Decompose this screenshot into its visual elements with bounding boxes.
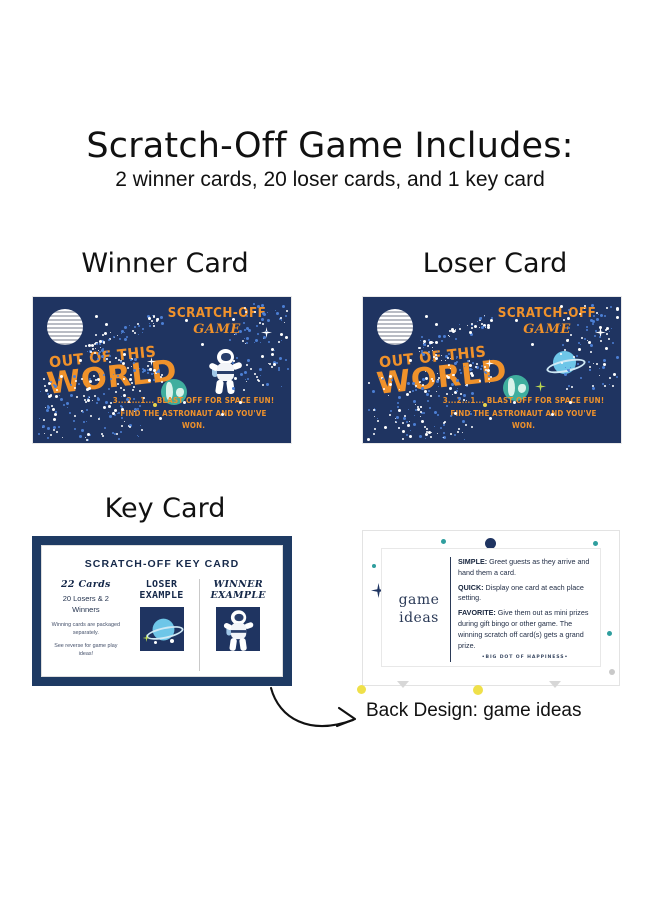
star-dot xyxy=(153,325,155,327)
star-dot xyxy=(432,350,433,351)
card-tagline: 3...2...1... BLAST OFF FOR SPACE FUN! FI… xyxy=(110,395,276,433)
star-dot xyxy=(421,420,424,423)
star-dot xyxy=(97,358,99,360)
star-dot xyxy=(266,383,269,386)
star-dot xyxy=(570,334,572,336)
star-dot xyxy=(389,383,392,386)
star-dot xyxy=(443,422,445,424)
star-dot xyxy=(606,307,608,309)
game-text: game xyxy=(399,592,440,610)
star-dot xyxy=(232,362,234,364)
sparkle-icon xyxy=(535,381,546,392)
star-dot xyxy=(109,338,111,340)
star-dot xyxy=(108,339,110,341)
star-dot xyxy=(571,386,573,388)
star-dot xyxy=(120,431,122,433)
star-dot xyxy=(531,343,534,346)
star-dot xyxy=(420,340,421,341)
star-dot xyxy=(551,413,554,416)
star-dot xyxy=(83,421,85,423)
star-dot xyxy=(442,437,443,438)
star-dot xyxy=(418,347,420,349)
star-dot xyxy=(584,338,586,340)
star-dot xyxy=(592,385,594,387)
star-dot xyxy=(160,316,163,319)
star-dot xyxy=(481,326,484,329)
star-dot xyxy=(134,358,137,361)
star-dot xyxy=(96,402,98,404)
star-dot xyxy=(476,363,478,365)
star-dot xyxy=(285,336,288,339)
star-dot xyxy=(129,325,130,326)
star-dot xyxy=(123,394,126,397)
star-dot xyxy=(377,420,379,422)
star-dot xyxy=(374,416,375,417)
star-dot xyxy=(286,310,288,312)
key-card-counts: 22 Cards 20 Losers & 2 Winners Winning c… xyxy=(48,579,124,671)
star-dot xyxy=(431,432,432,433)
star-dot xyxy=(489,417,492,420)
star-dot xyxy=(138,436,139,437)
star-dot xyxy=(609,377,611,379)
star-dot xyxy=(425,438,426,439)
star-dot xyxy=(462,432,463,433)
star-dot xyxy=(437,414,439,416)
winner-example-column: WINNER EXAMPLE xyxy=(200,579,276,671)
star-dot xyxy=(445,360,446,361)
star-dot xyxy=(568,327,570,329)
tip-label: FAVORITE: xyxy=(458,608,496,617)
star-dot xyxy=(137,323,139,325)
star-dot xyxy=(159,417,162,420)
star-dot xyxy=(170,639,174,643)
star-dot xyxy=(67,407,68,408)
star-dot xyxy=(114,409,117,412)
tip-label: SIMPLE: xyxy=(458,557,487,566)
star-dot xyxy=(573,356,575,358)
scratch-off-text: SCRATCH-OFF xyxy=(492,307,602,321)
star-dot xyxy=(262,384,264,386)
brand-footer: •BIG DOT OF HAPPINESS• xyxy=(458,655,592,660)
star-dot xyxy=(261,304,264,307)
star-dot xyxy=(409,359,412,362)
star-dot xyxy=(250,368,252,370)
astronaut-icon xyxy=(224,610,255,651)
star-dot xyxy=(147,372,149,374)
star-dot xyxy=(121,333,122,334)
star-dot xyxy=(616,308,619,311)
star-dot xyxy=(475,366,477,368)
star-dot xyxy=(415,404,416,405)
star-dot xyxy=(402,438,404,440)
key-card-title: SCRATCH-OFF KEY CARD xyxy=(48,558,276,570)
star-dot xyxy=(458,428,460,430)
star-dot xyxy=(598,314,599,315)
star-dot xyxy=(40,391,41,392)
star-dot xyxy=(153,379,155,381)
star-dot xyxy=(437,433,438,434)
star-dot xyxy=(425,345,426,346)
star-dot xyxy=(599,375,600,376)
page-subtitle: 2 winner cards, 20 loser cards, and 1 ke… xyxy=(0,168,660,192)
star-dot xyxy=(367,438,370,441)
packaging-note: Winning cards are packaged separately. xyxy=(48,621,124,637)
star-dot xyxy=(97,378,100,381)
star-dot xyxy=(471,323,473,325)
star-dot xyxy=(279,357,282,360)
star-dot xyxy=(438,335,441,338)
yellow-dot xyxy=(473,685,483,695)
star-dot xyxy=(425,377,428,380)
star-dot xyxy=(477,321,478,322)
star-dot xyxy=(271,348,274,351)
star-dot xyxy=(271,353,274,356)
star-dot xyxy=(456,361,458,363)
star-dot xyxy=(263,336,266,339)
scratch-off-text: SCRATCH-OFF xyxy=(162,307,272,321)
star-dot xyxy=(610,306,612,308)
star-dot xyxy=(594,335,596,337)
star-dot xyxy=(47,393,49,395)
star-dot xyxy=(484,366,486,368)
star-dot xyxy=(428,431,431,434)
star-dot xyxy=(102,334,104,336)
star-dot xyxy=(142,332,143,333)
star-dot xyxy=(425,433,428,436)
star-dot xyxy=(267,312,268,313)
star-dot xyxy=(86,421,87,422)
star-dot xyxy=(285,315,287,317)
star-dot xyxy=(149,325,151,327)
star-dot xyxy=(402,422,404,424)
star-dot xyxy=(74,415,76,417)
star-dot xyxy=(149,323,150,324)
star-dot xyxy=(599,326,602,329)
star-dot xyxy=(236,357,238,359)
star-dot xyxy=(281,320,282,321)
star-dot xyxy=(70,394,73,397)
star-dot xyxy=(419,435,422,438)
star-dot xyxy=(276,362,278,364)
star-dot xyxy=(427,345,429,347)
star-dot xyxy=(398,427,400,429)
star-dot xyxy=(564,373,567,376)
star-dot xyxy=(256,376,258,378)
star-dot xyxy=(430,436,432,438)
striped-planet-icon xyxy=(47,309,83,345)
teal-dot xyxy=(441,539,446,544)
star-dot xyxy=(90,415,92,417)
star-dot xyxy=(589,366,591,368)
star-dot xyxy=(423,347,424,348)
winner-card-label: Winner Card xyxy=(30,248,300,279)
star-dot xyxy=(254,311,256,313)
star-dot xyxy=(515,319,518,322)
star-dot xyxy=(443,335,446,338)
star-dot xyxy=(280,333,283,336)
star-dot xyxy=(53,429,55,431)
star-dot xyxy=(255,339,258,342)
star-dot xyxy=(592,387,595,390)
star-dot xyxy=(86,409,88,411)
star-dot xyxy=(76,396,78,398)
grey-dot xyxy=(609,669,615,675)
star-dot xyxy=(269,363,271,365)
star-dot xyxy=(450,368,451,369)
curved-arrow-icon xyxy=(265,686,375,742)
star-dot xyxy=(130,374,132,376)
star-dot xyxy=(229,339,231,341)
star-dot xyxy=(590,351,592,353)
star-dot xyxy=(153,323,154,324)
star-dot xyxy=(368,409,370,411)
star-dot xyxy=(471,327,473,329)
star-dot xyxy=(425,315,428,318)
star-dot xyxy=(54,413,57,416)
star-dot xyxy=(81,378,83,380)
star-dot xyxy=(129,426,131,428)
star-dot xyxy=(464,366,465,367)
star-dot xyxy=(110,378,112,380)
star-dot xyxy=(246,315,248,317)
star-dot xyxy=(389,375,392,378)
star-dot xyxy=(612,342,614,344)
star-dot xyxy=(246,342,248,344)
star-dot xyxy=(616,316,619,319)
star-dot xyxy=(589,369,591,371)
star-dot xyxy=(134,326,136,328)
game-ideas-heading: game ideas xyxy=(388,557,451,662)
star-dot xyxy=(464,439,465,440)
star-dot xyxy=(467,325,468,326)
star-dot xyxy=(92,400,93,401)
star-dot xyxy=(460,393,462,395)
star-dot xyxy=(407,382,410,385)
yellow-star-dot xyxy=(153,403,157,407)
star-dot xyxy=(429,341,432,344)
back-design-caption: Back Design: game ideas xyxy=(366,700,581,722)
star-dot xyxy=(138,325,140,327)
star-dot xyxy=(273,363,276,366)
star-dot xyxy=(436,391,437,392)
star-dot xyxy=(403,417,406,420)
star-dot xyxy=(138,334,139,335)
star-dot xyxy=(432,380,434,382)
star-dot xyxy=(38,433,40,435)
star-dot xyxy=(397,402,399,404)
star-dot xyxy=(568,385,570,387)
star-dot xyxy=(471,426,473,428)
star-dot xyxy=(426,431,428,433)
star-dot xyxy=(232,387,235,390)
star-dot xyxy=(104,332,107,335)
game-ideas-list: SIMPLE: Greet guests as they arrive and … xyxy=(451,557,592,662)
star-dot xyxy=(421,336,423,338)
star-dot xyxy=(432,360,433,361)
star-dot xyxy=(130,359,132,361)
star-dot xyxy=(137,408,139,410)
star-dot xyxy=(45,407,46,408)
star-dot xyxy=(484,315,485,316)
star-dot xyxy=(124,332,125,333)
star-dot xyxy=(82,411,84,413)
star-dot xyxy=(479,317,482,320)
star-dot xyxy=(246,364,248,366)
loser-card-label: Loser Card xyxy=(360,248,630,279)
card-count-heading: 22 Cards xyxy=(48,579,124,590)
star-dot xyxy=(448,353,450,355)
star-dot xyxy=(47,427,50,430)
star-dot xyxy=(86,439,88,441)
star-dot xyxy=(578,348,581,351)
loser-example-column: LOSER EXAMPLE xyxy=(124,579,201,671)
star-dot xyxy=(435,341,438,344)
star-dot xyxy=(410,430,411,431)
star-dot xyxy=(39,418,40,419)
back-design-image: game ideas SIMPLE: Greet guests as they … xyxy=(362,530,620,686)
star-dot xyxy=(141,429,143,431)
star-dot xyxy=(110,402,112,404)
star-dot xyxy=(69,412,71,414)
star-dot xyxy=(377,418,378,419)
star-dot xyxy=(384,426,387,429)
star-dot xyxy=(281,386,282,387)
star-dot xyxy=(185,319,188,322)
star-dot xyxy=(397,406,399,408)
star-dot xyxy=(246,327,249,330)
teal-dot xyxy=(607,631,612,636)
star-dot xyxy=(454,434,456,436)
star-dot xyxy=(281,340,282,341)
star-dot xyxy=(474,325,477,328)
star-dot xyxy=(513,401,516,404)
star-dot xyxy=(62,437,63,438)
striped-planet-icon xyxy=(377,309,413,345)
star-dot xyxy=(127,367,129,369)
star-dot xyxy=(53,418,56,421)
triangle-marker xyxy=(397,681,409,688)
star-dot xyxy=(105,323,108,326)
astronaut-icon xyxy=(209,349,243,395)
star-dot xyxy=(398,409,401,412)
star-dot xyxy=(388,395,389,396)
star-dot xyxy=(606,333,608,335)
star-dot xyxy=(580,377,582,379)
star-dot xyxy=(246,381,247,382)
star-dot xyxy=(201,343,204,346)
star-dot xyxy=(91,344,94,347)
teal-dot xyxy=(593,541,598,546)
star-dot xyxy=(413,423,416,426)
star-dot xyxy=(404,415,406,417)
star-dot xyxy=(449,336,450,337)
star-dot xyxy=(603,359,606,362)
star-dot xyxy=(103,406,106,409)
star-dot xyxy=(609,331,610,332)
star-dot xyxy=(112,412,115,415)
star-dot xyxy=(396,416,399,419)
star-dot xyxy=(603,363,606,366)
star-dot xyxy=(593,315,595,317)
star-dot xyxy=(96,343,98,345)
star-dot xyxy=(408,409,409,410)
star-dot xyxy=(285,359,287,361)
star-dot xyxy=(602,366,605,369)
star-dot xyxy=(466,400,467,401)
star-dot xyxy=(108,388,110,390)
star-dot xyxy=(282,305,285,308)
star-dot xyxy=(430,395,432,397)
star-dot xyxy=(257,305,260,308)
star-dot xyxy=(588,361,590,363)
star-dot xyxy=(63,404,65,406)
star-dot xyxy=(245,379,246,380)
star-dot xyxy=(101,355,104,358)
star-dot xyxy=(121,417,123,419)
star-dot xyxy=(450,433,452,435)
star-dot xyxy=(484,326,485,327)
star-dot xyxy=(124,326,127,329)
star-dot xyxy=(613,373,616,376)
star-dot xyxy=(616,356,619,359)
star-dot xyxy=(256,325,258,327)
star-dot xyxy=(118,412,120,414)
star-dot xyxy=(593,363,594,364)
star-dot xyxy=(44,433,45,434)
star-dot xyxy=(105,401,108,404)
star-dot xyxy=(56,389,58,391)
star-dot xyxy=(47,437,49,439)
star-dot xyxy=(568,339,569,340)
star-dot xyxy=(116,433,118,435)
star-dot xyxy=(436,356,437,357)
star-dot xyxy=(79,359,82,362)
star-dot xyxy=(609,384,610,385)
star-dot xyxy=(372,390,375,393)
star-dot xyxy=(109,355,111,357)
star-dot xyxy=(596,363,598,365)
star-dot xyxy=(611,328,612,329)
star-dot xyxy=(245,343,246,344)
star-dot xyxy=(243,389,245,391)
tip-label: QUICK: xyxy=(458,583,484,592)
star-dot xyxy=(51,405,53,407)
star-dot xyxy=(46,409,49,412)
star-dot xyxy=(121,425,123,427)
star-dot xyxy=(580,344,581,345)
star-dot xyxy=(612,385,614,387)
star-dot xyxy=(117,375,119,377)
star-dot xyxy=(44,385,46,387)
tagline-line-2: FIND THE ASTRONAUT AND YOU'VE WON. xyxy=(440,408,606,434)
star-dot xyxy=(599,368,600,369)
star-dot xyxy=(450,415,452,417)
star-dot xyxy=(374,408,375,409)
loser-card-image: SCRATCH-OFF GAME OUT OF THIS WORLD 3...2… xyxy=(362,296,622,444)
star-dot xyxy=(426,428,428,430)
star-dot xyxy=(398,396,401,399)
star-dot xyxy=(599,336,601,338)
star-dot xyxy=(54,385,57,388)
star-dot xyxy=(142,328,144,330)
star-dot xyxy=(243,322,245,324)
star-dot xyxy=(447,376,450,379)
star-dot xyxy=(108,412,109,413)
star-dot xyxy=(102,435,104,437)
star-dot xyxy=(149,368,152,371)
star-dot xyxy=(87,399,90,402)
star-dot xyxy=(412,390,414,392)
